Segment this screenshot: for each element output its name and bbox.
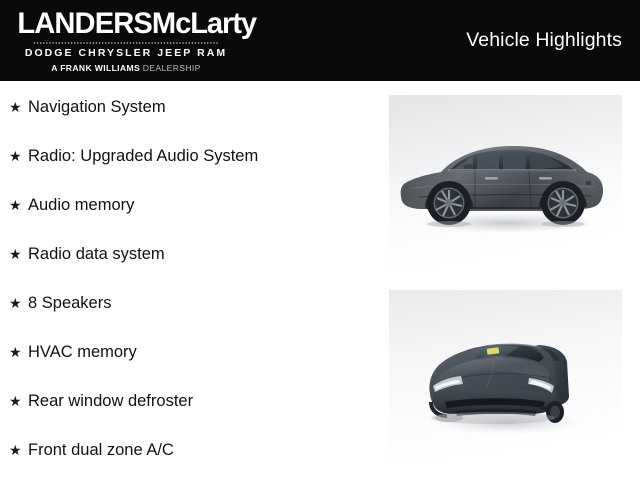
- star-bullet-icon: ★: [9, 145, 28, 167]
- list-item: ★ Radio data system: [0, 243, 380, 292]
- list-item: ★ Front dual zone A/C: [0, 439, 380, 488]
- feature-label: Front dual zone A/C: [28, 439, 174, 461]
- feature-label: 8 Speakers: [28, 292, 111, 314]
- list-item: ★ HVAC memory: [0, 341, 380, 390]
- feature-label: Rear window defroster: [28, 390, 193, 412]
- feature-label: Navigation System: [28, 96, 166, 118]
- vehicle-photo-side-profile[interactable]: [389, 95, 622, 268]
- list-item: ★ Audio memory: [0, 194, 380, 243]
- star-bullet-icon: ★: [9, 194, 28, 216]
- list-item: ★ 8 Speakers: [0, 292, 380, 341]
- star-bullet-icon: ★: [9, 341, 28, 363]
- logo-brands-line: DODGE CHRYSLER JEEP RAM: [14, 47, 238, 59]
- logo-wordmark-landers: LANDERS: [17, 7, 152, 40]
- feature-label: Audio memory: [28, 194, 134, 216]
- feature-label: Radio data system: [28, 243, 165, 265]
- list-item: ★ Radio: Upgraded Audio System: [0, 145, 380, 194]
- car-front-quarter-illustration: [389, 290, 622, 463]
- list-item: ★ Rear window defroster: [0, 390, 380, 439]
- page-header: LANDERSMcLarty DODGE CHRYSLER JEEP RAM A…: [0, 0, 640, 81]
- logo-dealership-owner: A FRANK WILLIAMS: [51, 63, 143, 73]
- feature-label: HVAC memory: [28, 341, 137, 363]
- page-title: Vehicle Highlights: [466, 0, 622, 81]
- dealership-logo[interactable]: LANDERSMcLarty DODGE CHRYSLER JEEP RAM A…: [14, 9, 238, 73]
- vehicle-photo-front-three-quarter[interactable]: [389, 290, 622, 463]
- feature-label: Radio: Upgraded Audio System: [28, 145, 258, 167]
- logo-wordmark-mclarty: McLarty: [152, 7, 256, 40]
- car-side-profile-illustration: [389, 95, 622, 268]
- star-bullet-icon: ★: [9, 390, 28, 412]
- star-bullet-icon: ★: [9, 439, 28, 461]
- logo-dotted-divider: [33, 42, 219, 44]
- star-bullet-icon: ★: [9, 243, 28, 265]
- logo-dealership-word: DEALERSHIP: [143, 63, 201, 73]
- logo-wordmark: LANDERSMcLarty: [17, 9, 234, 39]
- vehicle-features-list: ★ Navigation System ★ Radio: Upgraded Au…: [0, 81, 380, 488]
- star-bullet-icon: ★: [9, 292, 28, 314]
- list-item: ★ Navigation System: [0, 81, 380, 145]
- logo-dealership-line: A FRANK WILLIAMS DEALERSHIP: [14, 63, 238, 73]
- star-bullet-icon: ★: [9, 96, 28, 118]
